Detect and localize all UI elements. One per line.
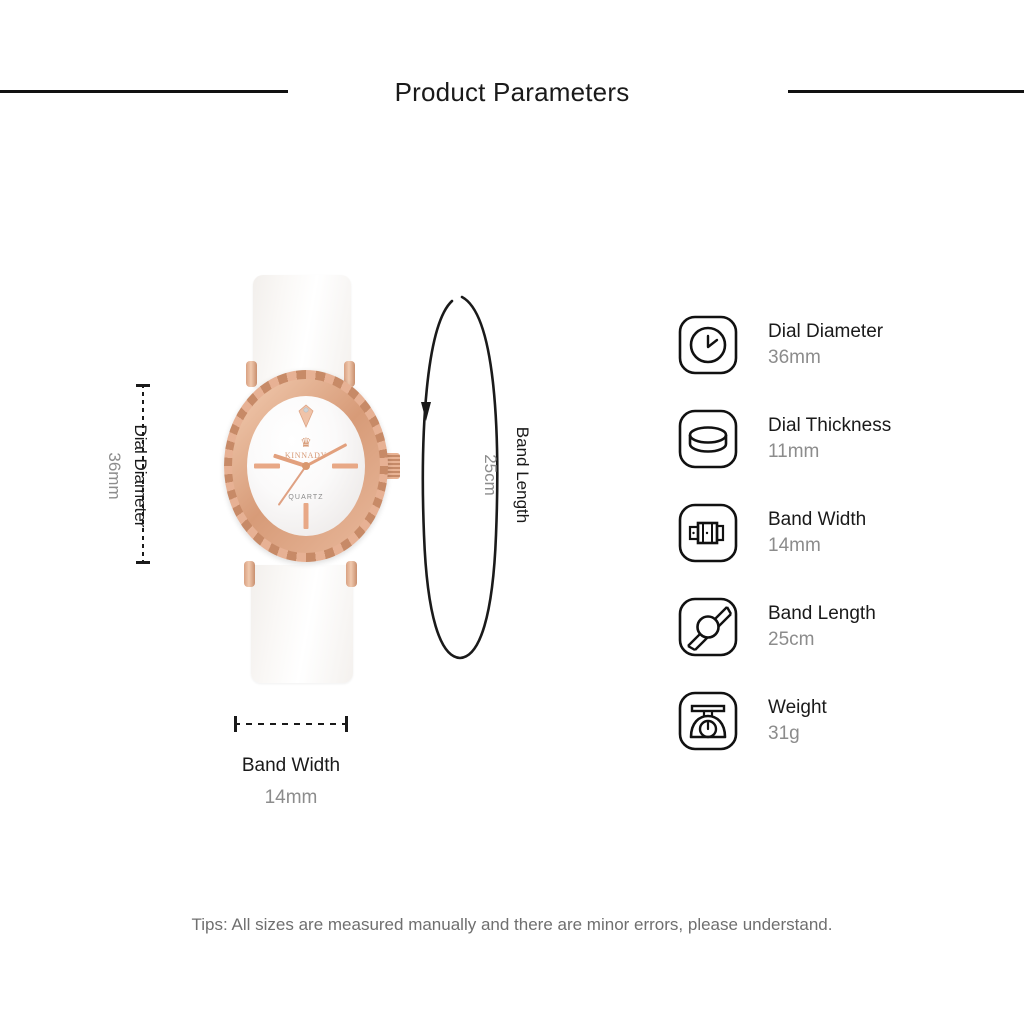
measure-cap-left: [234, 716, 237, 732]
band-length-icon: [672, 591, 744, 663]
product-parameters-page: Product Parameters ♛ KINNADY QUARTZ: [0, 0, 1024, 1024]
spec-text: Band Width 14mm: [768, 507, 866, 558]
watch-strap-bottom: [251, 565, 353, 683]
spec-row-band-width: Band Width 14mm: [672, 486, 1002, 580]
watch-dial-icon: [672, 309, 744, 381]
spec-value: 31g: [768, 721, 827, 747]
measure-dashed-line-horizontal: [234, 723, 348, 725]
watch-dial: ♛ KINNADY QUARTZ: [247, 396, 365, 536]
dial-marker-3: [332, 464, 358, 469]
band-width-value: 14mm: [175, 787, 407, 809]
spec-value: 14mm: [768, 533, 866, 559]
spec-list: Dial Diameter 36mm Dial Thickness 11mm: [672, 298, 1002, 768]
watch-lug-top-left: [246, 361, 257, 387]
spec-row-dial-diameter: Dial Diameter 36mm: [672, 298, 1002, 392]
watch-lug-bottom-left: [244, 561, 255, 587]
spec-text: Band Length 25cm: [768, 601, 876, 652]
title-rule-right: [788, 90, 1024, 93]
page-title: Product Parameters: [395, 77, 630, 108]
spec-label: Band Length: [768, 601, 876, 627]
title-rule-left: [0, 90, 288, 93]
watch-bezel: ♛ KINNADY QUARTZ: [232, 379, 380, 553]
band-buckle-icon: [672, 497, 744, 569]
spec-row-weight: Weight 31g: [672, 674, 1002, 768]
spec-label: Dial Thickness: [768, 413, 891, 439]
spec-row-dial-thickness: Dial Thickness 11mm: [672, 392, 1002, 486]
band-width-label: Band Width: [175, 755, 407, 777]
dial-gem-marker-icon: [298, 404, 314, 428]
spec-label: Band Width: [768, 507, 866, 533]
band-loop-icon: [400, 285, 520, 670]
spec-value: 25cm: [768, 627, 876, 653]
spec-value: 11mm: [768, 439, 891, 465]
spec-label: Weight: [768, 695, 827, 721]
watch-case: ♛ KINNADY QUARTZ: [224, 370, 388, 562]
dial-diameter-label: Dial Diameter: [130, 396, 150, 556]
spec-text: Dial Diameter 36mm: [768, 319, 883, 370]
spec-value: 36mm: [768, 345, 883, 371]
measure-cap-bottom: [136, 561, 150, 564]
band-length-loop: [400, 285, 520, 670]
kitchen-scale-icon: [672, 685, 744, 757]
spec-label: Dial Diameter: [768, 319, 883, 345]
measure-cap-top: [136, 384, 150, 387]
crown-logo-icon: ♛: [300, 436, 312, 449]
dial-marker-6: [304, 503, 309, 529]
watch-hands-cap: [302, 462, 310, 470]
watch-illustration: ♛ KINNADY QUARTZ: [215, 275, 415, 675]
spec-row-band-length: Band Length 25cm: [672, 580, 1002, 674]
band-length-value: 25cm: [480, 385, 500, 565]
spec-text: Weight 31g: [768, 695, 827, 746]
dial-thickness-icon: [672, 403, 744, 475]
footer-tips: Tips: All sizes are measured manually an…: [0, 915, 1024, 935]
header: Product Parameters: [0, 68, 1024, 116]
dial-diameter-value: 36mm: [104, 396, 124, 556]
dial-marker-9: [254, 464, 280, 469]
measure-cap-right: [345, 716, 348, 732]
band-length-label: Band Length: [512, 385, 532, 565]
watch-lug-bottom-right: [346, 561, 357, 587]
spec-text: Dial Thickness 11mm: [768, 413, 891, 464]
watch-movement-text: QUARTZ: [288, 494, 323, 501]
band-width-measure-line: [234, 716, 348, 732]
